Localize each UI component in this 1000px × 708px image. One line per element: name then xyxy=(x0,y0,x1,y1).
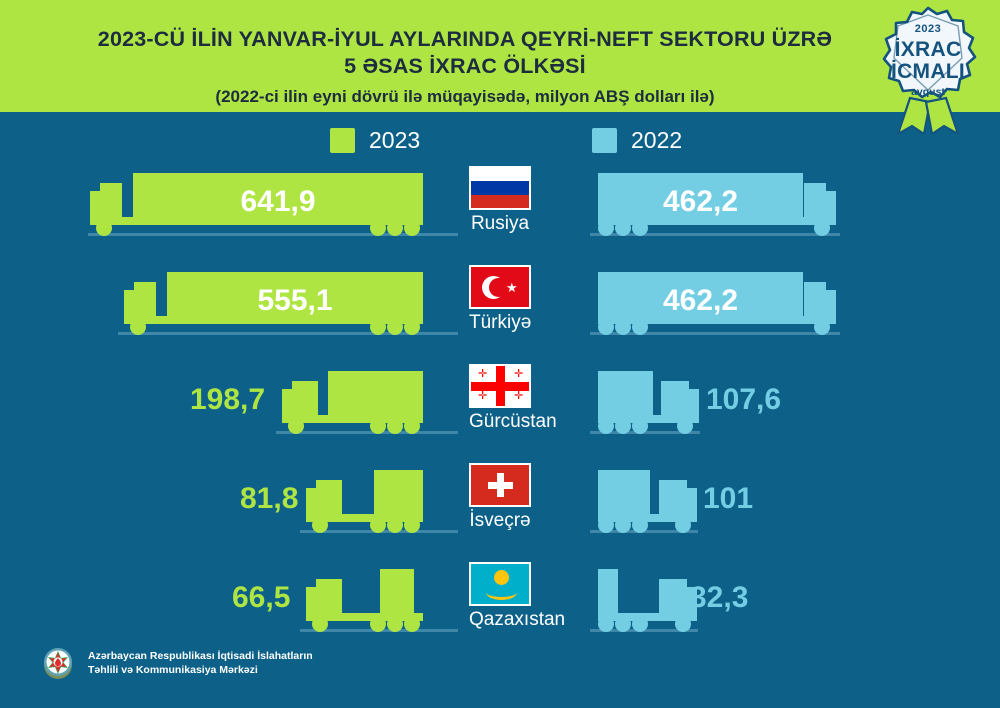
flag-russia-icon xyxy=(469,166,531,210)
legend-item-2023: 2023 xyxy=(330,127,420,154)
badge-line-1: İXRAC xyxy=(866,39,990,60)
flag-switzerland-icon xyxy=(469,463,531,507)
value-label-2022-gurcustan: 107,6 xyxy=(706,383,781,417)
value-label-2022-qazaxistan: 32,3 xyxy=(690,581,748,615)
footer-text-block: Azərbaycan Respublikası İqtisadi İslahat… xyxy=(88,649,313,677)
header-text-block: 2023-CÜ İLİN YANVAR-İYUL AYLARINDA QEYRİ… xyxy=(60,26,870,107)
country-block-gurcustan: ✛ ✛ ✛ ✛ Gürcüstan xyxy=(469,364,531,433)
legend-label-2022: 2022 xyxy=(631,127,682,154)
flag-kazakhstan-icon xyxy=(469,562,531,606)
data-row-qazaxistan: 66,5 Qazaxıstan 32,3 xyxy=(0,561,1000,641)
country-block-qazaxistan: Qazaxıstan xyxy=(469,562,531,631)
legend-swatch-2022 xyxy=(592,128,617,153)
legend-swatch-2023 xyxy=(330,128,355,153)
flag-turkey-icon: ★ xyxy=(469,265,531,309)
country-label-qazaxistan: Qazaxıstan xyxy=(469,609,531,631)
truck-green-isvecre xyxy=(304,470,428,532)
truck-cyan-gurcustan xyxy=(593,371,701,433)
data-row-gurcustan: 198,7 ✛ ✛ ✛ ✛ Gürcüstan 107,6 xyxy=(0,363,1000,443)
page-subtitle: (2022-ci ilin eyni dövrü ilə müqayisədə,… xyxy=(60,87,870,107)
value-label-2022-rusiya: 462,2 xyxy=(598,185,803,219)
country-label-gurcustan: Gürcüstan xyxy=(469,411,531,433)
data-row-isvecre: 81,8 İsveçrə 101 xyxy=(0,462,1000,542)
data-row-turkiye: 555,1 ★ Türkiyə 462,2 xyxy=(0,264,1000,344)
flag-georgia-icon: ✛ ✛ ✛ ✛ xyxy=(469,364,531,408)
footer: Azərbaycan Respublikası İqtisadi İslahat… xyxy=(40,645,313,681)
footer-line-1: Azərbaycan Respublikası İqtisadi İslahat… xyxy=(88,649,313,663)
truck-cyan-isvecre xyxy=(593,470,699,532)
badge-line-2: İCMALI xyxy=(866,61,990,82)
truck-green-qazaxistan xyxy=(304,569,428,631)
ixrac-icmali-badge: 2023 İXRAC İCMALI avqust xyxy=(866,2,990,134)
value-label-2023-rusiya: 641,9 xyxy=(133,185,423,219)
chart-legend: 2023 2022 xyxy=(0,125,1000,159)
page-title-line-2: 5 ƏSAS İXRAC ÖLKƏSİ xyxy=(60,53,870,80)
country-label-turkiye: Türkiyə xyxy=(469,312,531,334)
value-label-2022-isvecre: 101 xyxy=(703,482,753,516)
country-label-isvecre: İsveçrə xyxy=(469,510,531,532)
country-block-turkiye: ★ Türkiyə xyxy=(469,265,531,334)
footer-line-2: Təhlili və Kommunikasiya Mərkəzi xyxy=(88,663,313,677)
country-block-rusiya: Rusiya xyxy=(469,166,531,235)
value-label-2023-qazaxistan: 66,5 xyxy=(232,581,290,615)
value-label-2023-gurcustan: 198,7 xyxy=(190,383,265,417)
value-label-2023-isvecre: 81,8 xyxy=(240,482,298,516)
badge-year: 2023 xyxy=(866,24,990,35)
country-label-rusiya: Rusiya xyxy=(469,213,531,235)
header-banner: 2023-CÜ İLİN YANVAR-İYUL AYLARINDA QEYRİ… xyxy=(0,0,1000,112)
data-row-rusiya: 641,9 Rusiya 462,2 xyxy=(0,165,1000,245)
azerbaijan-emblem-icon xyxy=(40,645,76,681)
value-label-2022-turkiye: 462,2 xyxy=(598,284,803,318)
truck-cyan-qazaxistan xyxy=(593,569,699,631)
truck-green-gurcustan xyxy=(280,371,428,433)
badge-text-block: 2023 İXRAC İCMALI avqust xyxy=(866,24,990,98)
legend-label-2023: 2023 xyxy=(369,127,420,154)
page-title-line-1: 2023-CÜ İLİN YANVAR-İYUL AYLARINDA QEYRİ… xyxy=(60,26,870,53)
country-block-isvecre: İsveçrə xyxy=(469,463,531,532)
value-label-2023-turkiye: 555,1 xyxy=(167,284,423,318)
legend-item-2022: 2022 xyxy=(592,127,682,154)
badge-month: avqust xyxy=(866,87,990,98)
